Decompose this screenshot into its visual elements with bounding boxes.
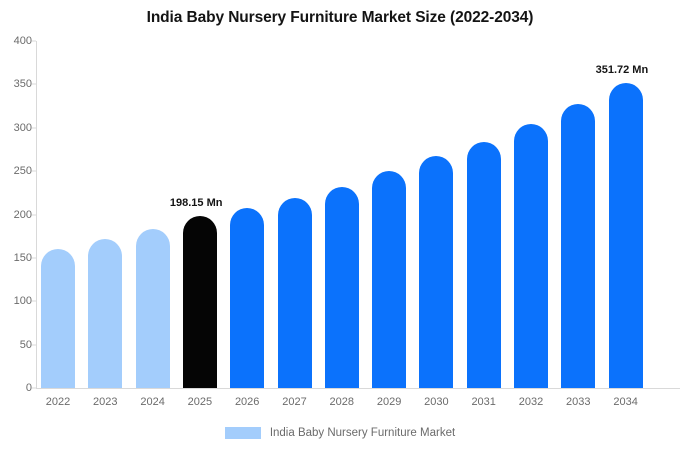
bar-2028[interactable] [325, 187, 359, 388]
y-axis-tick-label: 50 [0, 339, 32, 351]
value-label-2034: 351.72 Mn [596, 64, 649, 76]
x-axis-tick-label: 2034 [601, 396, 651, 408]
y-axis-tick-label: 350 [0, 78, 32, 90]
x-axis-tick-label: 2031 [459, 396, 509, 408]
bar-2027[interactable] [278, 198, 312, 388]
y-axis-tick-label: 100 [0, 295, 32, 307]
x-axis-tick-label: 2023 [80, 396, 130, 408]
bar-chart: India Baby Nursery Furniture Market Size… [0, 0, 680, 450]
bar-2032[interactable] [514, 124, 548, 388]
bar-2026[interactable] [230, 208, 264, 388]
y-axis-tick-label: 250 [0, 165, 32, 177]
y-axis-tick-label: 150 [0, 252, 32, 264]
x-axis-tick-label: 2026 [222, 396, 272, 408]
chart-legend: India Baby Nursery Furniture Market [0, 427, 680, 439]
bar-2023[interactable] [88, 239, 122, 388]
plot-area [36, 41, 680, 388]
chart-title: India Baby Nursery Furniture Market Size… [0, 9, 680, 27]
y-axis-tick-label: 300 [0, 122, 32, 134]
legend-swatch-icon [225, 427, 261, 439]
x-axis-tick-label: 2030 [411, 396, 461, 408]
x-axis-tick-label: 2024 [128, 396, 178, 408]
x-axis-tick-label: 2028 [317, 396, 367, 408]
bar-2025[interactable] [183, 216, 217, 388]
x-axis-tick-label: 2022 [33, 396, 83, 408]
bar-2034[interactable] [609, 83, 643, 388]
bar-2030[interactable] [419, 156, 453, 388]
value-label-2025: 198.15 Mn [170, 197, 223, 209]
x-axis-tick-label: 2032 [506, 396, 556, 408]
bar-2031[interactable] [467, 142, 501, 388]
bar-2029[interactable] [372, 171, 406, 388]
x-axis-tick-label: 2033 [553, 396, 603, 408]
bar-2024[interactable] [136, 229, 170, 388]
x-axis-line [36, 388, 680, 389]
bar-2022[interactable] [41, 249, 75, 388]
legend-label: India Baby Nursery Furniture Market [270, 427, 455, 439]
x-axis-tick-label: 2025 [175, 396, 225, 408]
bar-2033[interactable] [561, 104, 595, 388]
y-axis-tick-label: 200 [0, 209, 32, 221]
y-axis-tick-label: 0 [0, 382, 32, 394]
x-axis-tick-label: 2027 [270, 396, 320, 408]
x-axis-tick-label: 2029 [364, 396, 414, 408]
y-axis-tick-label: 400 [0, 35, 32, 47]
